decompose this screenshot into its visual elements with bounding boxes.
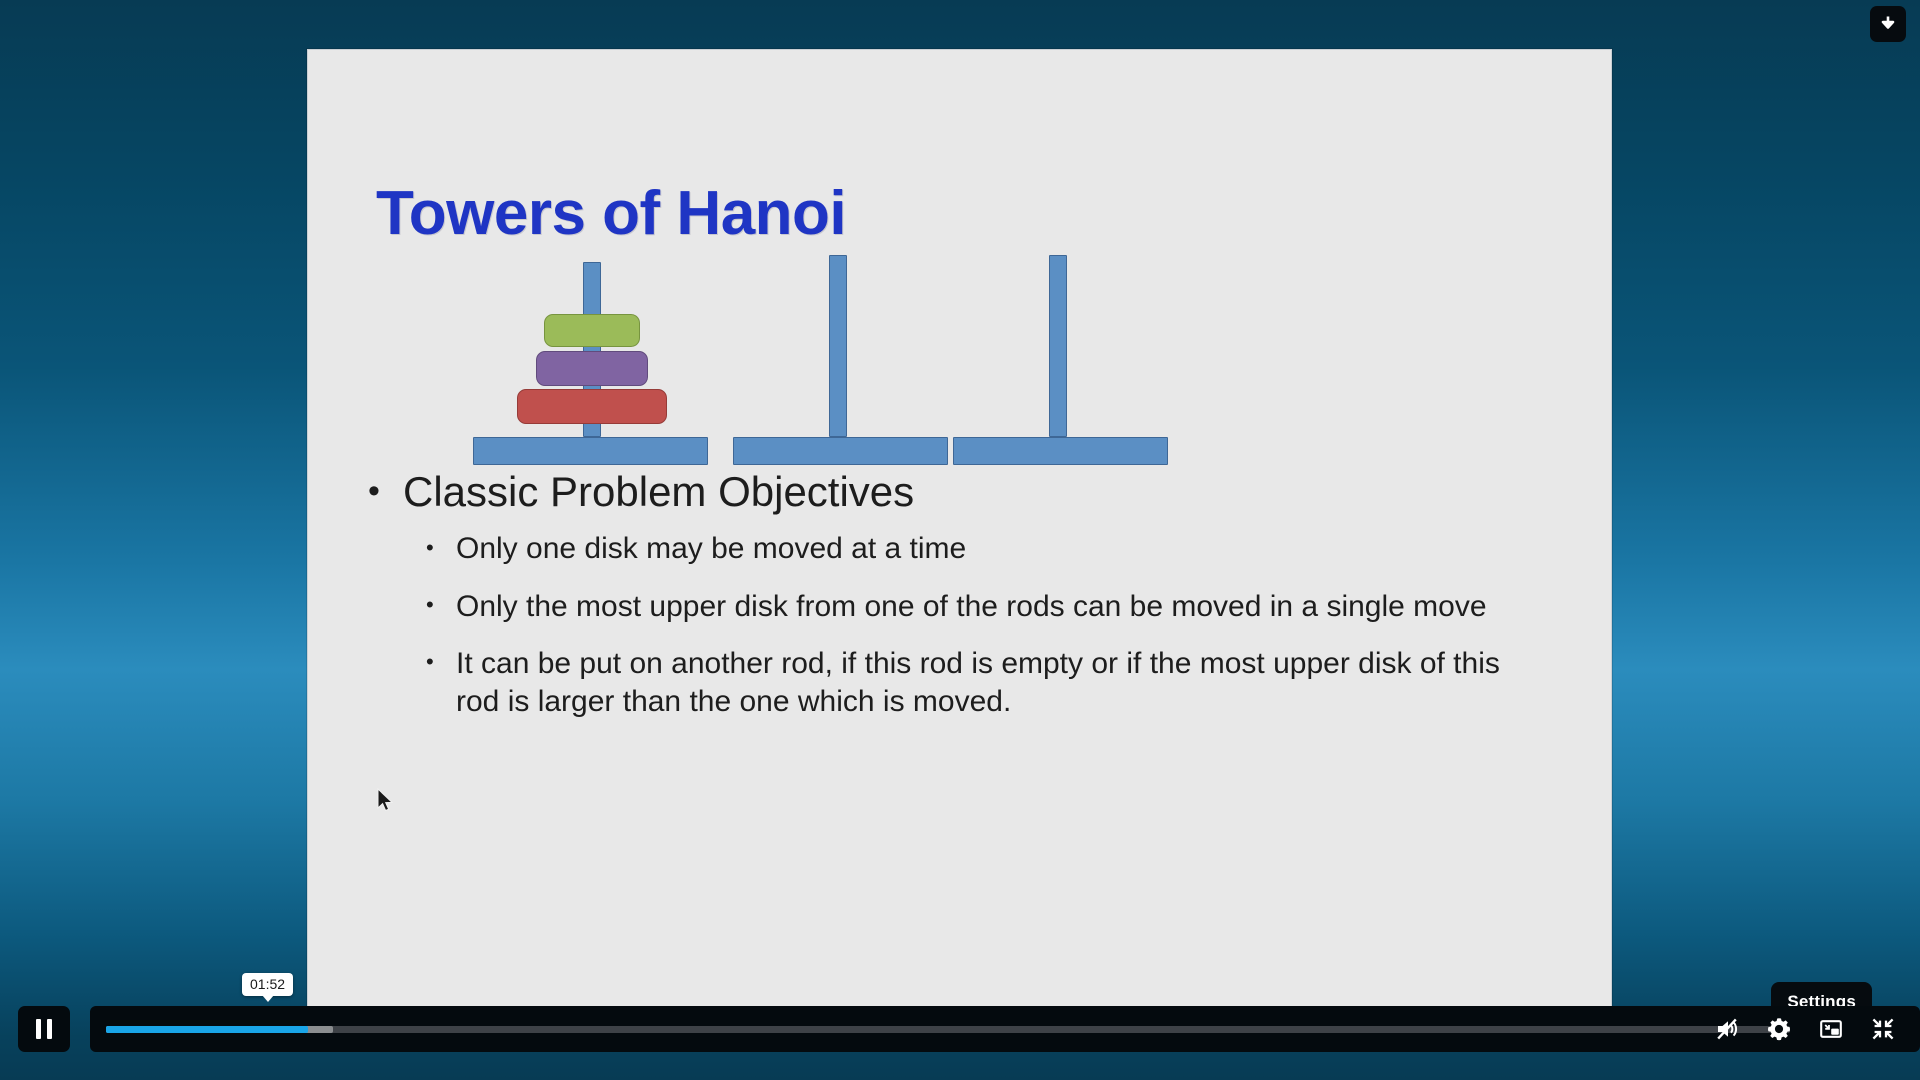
arrow-down-icon xyxy=(1878,14,1898,34)
bullet-marker: • xyxy=(426,645,434,678)
pause-icon-bar-left xyxy=(36,1019,41,1039)
exit-fullscreen-icon xyxy=(1870,1016,1896,1042)
gear-icon xyxy=(1766,1016,1792,1042)
time-tooltip: 01:52 xyxy=(242,973,293,996)
pause-button[interactable] xyxy=(18,1006,70,1052)
bullet-text: Only one disk may be moved at a time xyxy=(456,532,966,565)
rod-1-disk-medium xyxy=(536,351,648,386)
bullet-text: It can be put on another rod, if this ro… xyxy=(456,647,1500,718)
video-player-viewport: Towers of Hanoi xyxy=(0,0,1920,1080)
rod-2-base xyxy=(733,437,948,465)
bullet-marker: • xyxy=(426,588,434,621)
bullet-level2: • Only the most upper disk from one of t… xyxy=(308,588,1611,626)
bullet-text: Only the most upper disk from one of the… xyxy=(456,590,1487,623)
rod-3-base xyxy=(953,437,1168,465)
rod-3-peg xyxy=(1049,255,1067,437)
rod-2-peg xyxy=(829,255,847,437)
slide-body: • Classic Problem Objectives • Only one … xyxy=(308,468,1611,741)
bullet-level2: • It can be put on another rod, if this … xyxy=(308,645,1611,722)
volume-muted-icon xyxy=(1714,1016,1740,1042)
download-button[interactable] xyxy=(1870,6,1906,42)
pause-icon-bar-right xyxy=(47,1019,52,1039)
progress-bar-container[interactable]: 01:52 xyxy=(90,1006,1920,1052)
bullet-level1: • Classic Problem Objectives xyxy=(308,468,1611,516)
rod-1-base xyxy=(473,437,708,465)
picture-in-picture-button[interactable] xyxy=(1816,1014,1846,1044)
volume-muted-button[interactable] xyxy=(1712,1014,1742,1044)
rod-1-disk-small xyxy=(544,314,640,347)
page-title: Towers of Hanoi xyxy=(376,178,846,249)
progress-track[interactable] xyxy=(106,1026,1790,1033)
progress-played xyxy=(106,1026,308,1033)
presentation-slide: Towers of Hanoi xyxy=(307,49,1612,1022)
bullet-marker: • xyxy=(368,469,380,515)
video-control-bar: 01:52 xyxy=(0,1006,1920,1052)
bullet-marker: • xyxy=(426,531,434,564)
bullet-level2: • Only one disk may be moved at a time xyxy=(308,530,1611,568)
settings-button[interactable] xyxy=(1764,1014,1794,1044)
rod-1-disk-large xyxy=(517,389,667,424)
player-right-controls xyxy=(1712,1006,1898,1052)
exit-fullscreen-button[interactable] xyxy=(1868,1014,1898,1044)
bullet-text: Classic Problem Objectives xyxy=(403,468,914,515)
picture-in-picture-icon xyxy=(1818,1016,1844,1042)
